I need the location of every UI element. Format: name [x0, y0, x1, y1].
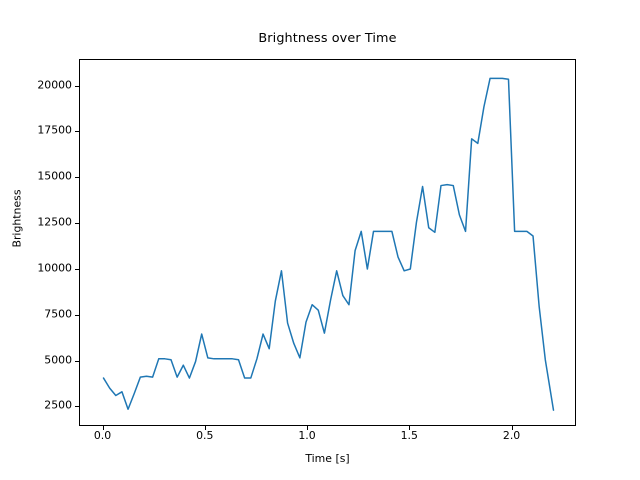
figure-canvas: Brightness over Time Brightness 25005000…: [0, 0, 640, 480]
y-axis-tick-marks: [0, 59, 79, 426]
x-tick-label: 1.5: [401, 431, 418, 442]
plot-area: [79, 59, 576, 426]
x-tick-label: 1.0: [298, 431, 315, 442]
y-tick-mark: [75, 269, 79, 270]
line-series-svg: [80, 60, 577, 427]
x-tick-label: 2.0: [503, 431, 520, 442]
chart-title: Brightness over Time: [79, 31, 576, 46]
y-tick-mark: [75, 177, 79, 178]
y-tick-mark: [75, 223, 79, 224]
x-axis-label: Time [s]: [79, 452, 576, 465]
y-tick-mark: [75, 315, 79, 316]
x-axis-tick-labels: 0.00.51.01.52.0: [79, 431, 576, 449]
x-tick-label: 0.0: [94, 431, 111, 442]
y-tick-mark: [75, 86, 79, 87]
brightness-line: [104, 78, 554, 410]
y-tick-mark: [75, 406, 79, 407]
x-tick-label: 0.5: [196, 431, 213, 442]
y-tick-mark: [75, 361, 79, 362]
y-tick-mark: [75, 131, 79, 132]
